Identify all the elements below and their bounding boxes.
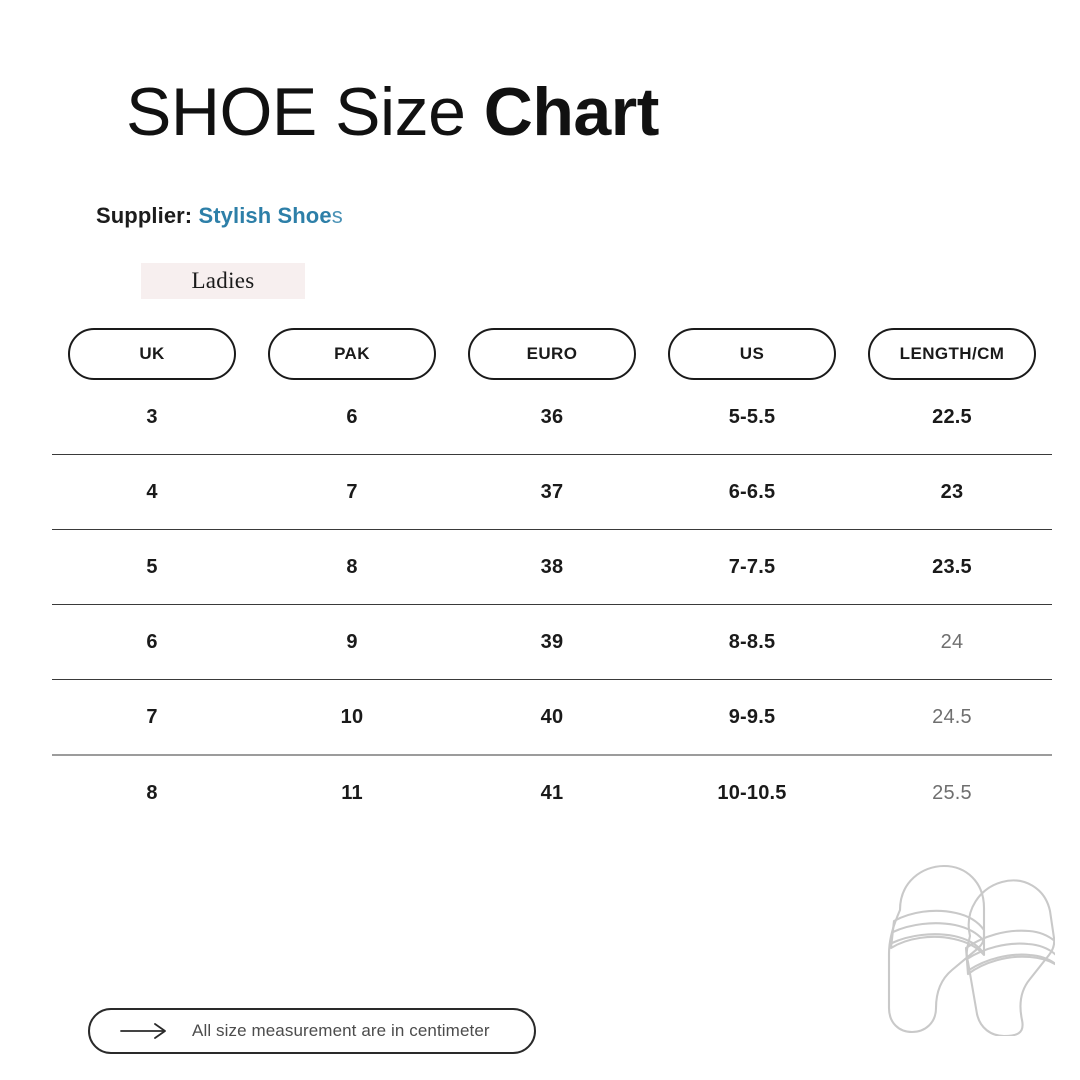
cell-us: 7-7.5 — [652, 556, 852, 579]
cell-euro: 40 — [452, 706, 652, 729]
cell-uk: 3 — [52, 406, 252, 429]
header-cell-euro: EURO — [452, 328, 652, 380]
table-row: 6 9 39 8-8.5 24 — [52, 605, 1052, 679]
header-cell-length: LENGTH/CM — [852, 328, 1052, 380]
table-body: 3 6 36 5-5.5 22.5 4 7 37 6-6.5 23 5 8 38… — [52, 380, 1052, 830]
page-title-light: SHOE Size — [126, 74, 484, 150]
cell-uk: 8 — [52, 782, 252, 805]
header-pill-us: US — [668, 328, 836, 380]
footer-note-text: All size measurement are in centimeter — [192, 1021, 490, 1041]
header-pill-pak: PAK — [268, 328, 436, 380]
cell-pak: 11 — [252, 782, 452, 805]
cell-pak: 10 — [252, 706, 452, 729]
cell-euro: 37 — [452, 481, 652, 504]
cell-pak: 6 — [252, 406, 452, 429]
supplier-label: Supplier: — [96, 203, 198, 228]
page-title: SHOE Size Chart — [126, 78, 659, 146]
header-cell-us: US — [652, 328, 852, 380]
header-pill-length: LENGTH/CM — [868, 328, 1036, 380]
header-label-length: LENGTH/CM — [900, 344, 1005, 364]
cell-euro: 39 — [452, 631, 652, 654]
size-chart-table: UK PAK EURO US LENGTH/CM 3 6 — [52, 328, 1052, 830]
table-row: 3 6 36 5-5.5 22.5 — [52, 380, 1052, 454]
header-cell-pak: PAK — [252, 328, 452, 380]
cell-length: 24.5 — [852, 706, 1052, 729]
table-row: 4 7 37 6-6.5 23 — [52, 455, 1052, 529]
header-pill-uk: UK — [68, 328, 236, 380]
page-title-bold: Chart — [484, 74, 659, 150]
header-label-uk: UK — [139, 344, 164, 364]
cell-pak: 8 — [252, 556, 452, 579]
cell-us: 6-6.5 — [652, 481, 852, 504]
cell-us: 10-10.5 — [652, 782, 852, 805]
cell-us: 8-8.5 — [652, 631, 852, 654]
cell-length: 24 — [852, 631, 1052, 654]
header-pill-euro: EURO — [468, 328, 636, 380]
cell-length: 23 — [852, 481, 1052, 504]
table-row: 8 11 41 10-10.5 25.5 — [52, 756, 1052, 830]
cell-length: 22.5 — [852, 406, 1052, 429]
cell-uk: 5 — [52, 556, 252, 579]
category-badge-label: Ladies — [191, 268, 254, 294]
cell-us: 9-9.5 — [652, 706, 852, 729]
slippers-icon — [880, 858, 1055, 1036]
cell-length: 25.5 — [852, 782, 1052, 805]
header-label-euro: EURO — [527, 344, 578, 364]
header-label-pak: PAK — [334, 344, 370, 364]
supplier-name-tail: s — [332, 203, 343, 228]
header-label-us: US — [740, 344, 764, 364]
category-badge-ladies: Ladies — [141, 263, 305, 299]
cell-pak: 7 — [252, 481, 452, 504]
cell-uk: 4 — [52, 481, 252, 504]
arrow-right-icon — [120, 1023, 168, 1039]
table-row: 7 10 40 9-9.5 24.5 — [52, 680, 1052, 754]
supplier-name: Stylish Shoe — [198, 203, 331, 228]
header-cell-uk: UK — [52, 328, 252, 380]
cell-euro: 38 — [452, 556, 652, 579]
cell-euro: 36 — [452, 406, 652, 429]
cell-pak: 9 — [252, 631, 452, 654]
footer-note: All size measurement are in centimeter — [88, 1008, 536, 1054]
supplier-line: Supplier: Stylish Shoes — [96, 203, 343, 229]
cell-length: 23.5 — [852, 556, 1052, 579]
cell-us: 5-5.5 — [652, 406, 852, 429]
cell-uk: 7 — [52, 706, 252, 729]
cell-euro: 41 — [452, 782, 652, 805]
table-row: 5 8 38 7-7.5 23.5 — [52, 530, 1052, 604]
cell-uk: 6 — [52, 631, 252, 654]
table-header-row: UK PAK EURO US LENGTH/CM — [52, 328, 1052, 380]
